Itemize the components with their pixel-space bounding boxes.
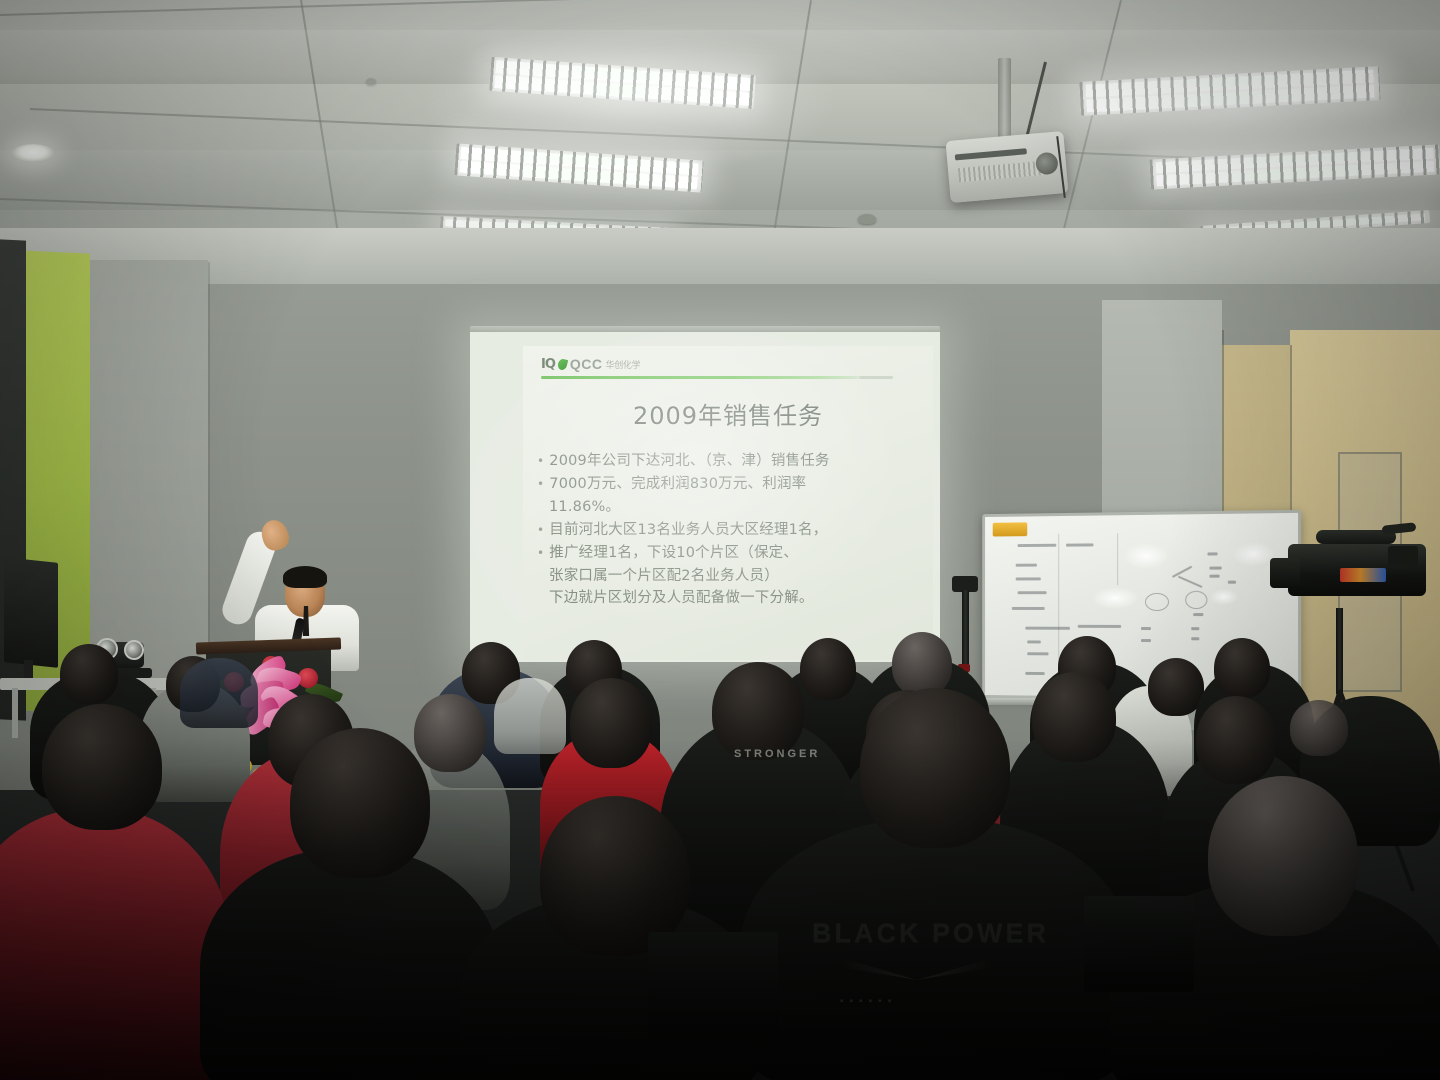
slide-accent-rule-tail	[859, 376, 893, 379]
audience-member-red-jacket	[0, 808, 230, 1080]
slide-accent-rule	[541, 376, 859, 379]
slide-bullet: 2009年公司下达河北、（京、津）销售任务	[537, 450, 923, 473]
audience-head	[800, 638, 856, 700]
audience-head	[860, 688, 1010, 848]
whiteboard-magnet	[993, 522, 1028, 536]
camera-label-sticker	[1340, 568, 1386, 582]
slide-bullet: 7000万元、完成利润830万元、利润率	[537, 473, 923, 496]
logo-iq-mark: IQ	[541, 358, 555, 371]
audience-head	[60, 644, 118, 704]
audience-head	[290, 728, 430, 878]
jacket-brand-text: BLACK POWER	[812, 918, 1049, 949]
smoke-detector-icon	[366, 78, 376, 85]
smoke-detector-icon	[858, 214, 876, 224]
ceiling-projector	[946, 131, 1069, 203]
slide-bullet: 目前河北大区13名业务人员大区经理1名，	[537, 519, 923, 542]
conference-room-photo: IQ QCC 华创化学 2009年销售任务 2009年公司下达河北、（京、津）销…	[0, 0, 1440, 1080]
camera-microphone	[1382, 522, 1417, 535]
hood-brand-text: STRONGER	[734, 748, 820, 760]
audience-head	[1290, 700, 1348, 756]
video-camera	[1270, 520, 1430, 606]
camera-lens-hood	[1270, 558, 1300, 588]
camera-viewfinder	[1388, 546, 1418, 566]
jacket-sub-text: ▪▪▪▪▪▪	[840, 996, 897, 1007]
logo-brand: QCC	[570, 356, 603, 372]
slide-logo: IQ QCC 华创化学	[541, 356, 640, 372]
audience-head	[1196, 696, 1276, 784]
slide-body: 2009年公司下达河北、（京、津）销售任务 7000万元、完成利润830万元、利…	[537, 450, 923, 610]
leaf-icon	[557, 358, 568, 371]
audience-member	[180, 658, 258, 728]
slide-bullet: 推广经理1名，下设10个片区（保定、	[537, 542, 923, 565]
slide-bullet-continuation: 11.86%。	[537, 496, 923, 519]
audience-head	[712, 662, 804, 760]
audience-member	[200, 848, 500, 1080]
chair-back	[1084, 896, 1194, 992]
slide-bullet-continuation: 张家口属一个片区配2名业务人员）	[537, 565, 923, 588]
projector-mount-pole	[998, 58, 1011, 140]
slide-title: 2009年销售任务	[523, 396, 933, 431]
chair-back	[648, 932, 778, 1040]
audience-head	[1208, 776, 1358, 936]
logo-brand-cn: 华创化学	[606, 358, 641, 371]
ceiling-soffit	[0, 228, 1440, 284]
audience-head	[1032, 672, 1116, 762]
audience: ●●● STRONGER BLACK POWER ▪▪▪▪▪▪	[0, 600, 1440, 1080]
audience-head	[1214, 638, 1270, 698]
audience-head	[42, 704, 162, 830]
audience-member	[494, 678, 566, 754]
audience-head	[570, 678, 652, 768]
presenter-hair	[283, 566, 327, 588]
audience-head	[414, 694, 486, 772]
downlight	[12, 144, 54, 162]
audience-member-black-power-jacket	[740, 818, 1130, 1080]
audience-head	[892, 632, 952, 696]
